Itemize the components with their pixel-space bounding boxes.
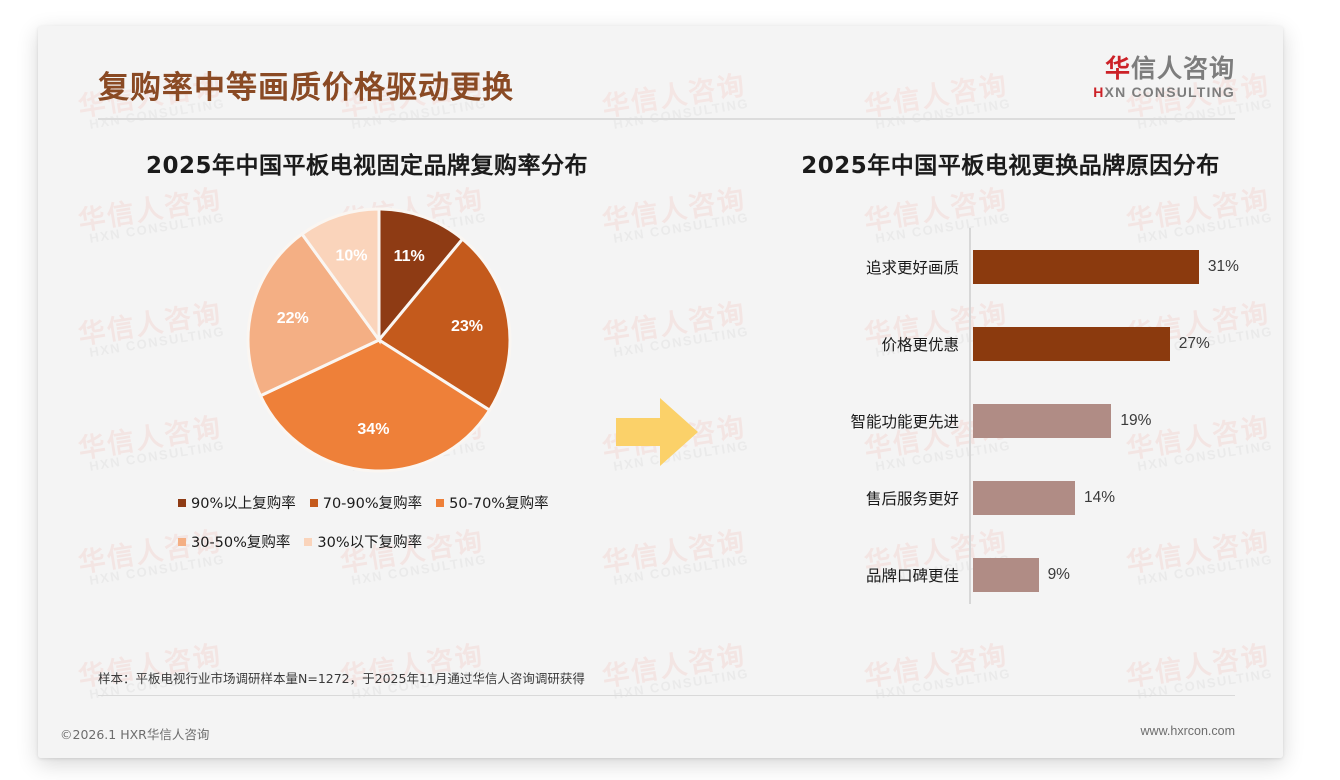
pie-legend-label: 70-90%复购率 <box>323 492 422 513</box>
bar-track: 31% <box>973 250 1283 284</box>
bar-category-label: 智能功能更先进 <box>678 410 973 432</box>
bar-value-label: 9% <box>1048 566 1070 584</box>
bar-fill[interactable] <box>973 250 1199 284</box>
pie-legend-item[interactable]: 30-50%复购率 <box>178 531 290 552</box>
pie-chart-svg: 11%23%34%22%10% <box>245 206 513 474</box>
legend-row-1: 90%以上复购率70-90%复购率50-70%复购率 <box>178 492 598 513</box>
bar-value-label: 31% <box>1208 258 1239 276</box>
bar-row[interactable]: 智能功能更先进19% <box>678 404 1283 438</box>
bar-fill[interactable] <box>973 404 1111 438</box>
sample-footnote-text: 样本：平板电视行业市场调研样本量N=1272，于2025年11月通过华信人咨询调… <box>98 668 1235 695</box>
bar-value-label: 19% <box>1120 412 1151 430</box>
brand-logo-en: HXN CONSULTING <box>1093 85 1235 100</box>
sample-footnote: 样本：平板电视行业市场调研样本量N=1272，于2025年11月通过华信人咨询调… <box>98 668 1235 696</box>
legend-swatch-icon <box>436 499 444 507</box>
legend-row-2: 30-50%复购率30%以下复购率 <box>178 531 598 552</box>
brand-logo-cn-red: 华 <box>1105 54 1131 83</box>
bar-category-label: 品牌口碑更佳 <box>678 564 973 586</box>
brand-logo-cn: 华信人咨询 <box>1093 56 1235 82</box>
pie-legend-label: 30%以下复购率 <box>317 531 422 552</box>
legend-swatch-icon <box>310 499 318 507</box>
bar-row[interactable]: 追求更好画质31% <box>678 250 1283 284</box>
pie-legend-item[interactable]: 50-70%复购率 <box>436 492 548 513</box>
title-divider <box>98 118 1235 120</box>
bar-track: 9% <box>973 558 1283 592</box>
pie-chart-title: 2025年中国平板电视固定品牌复购率分布 <box>56 146 678 180</box>
footer-copyright: ©2026.1 HXR华信人咨询 <box>60 724 209 743</box>
pie-legend-label: 30-50%复购率 <box>191 531 290 552</box>
bar-chart-title: 2025年中国平板电视更换品牌原因分布 <box>738 146 1283 180</box>
bar-category-label: 价格更优惠 <box>678 333 973 355</box>
right-arrow-icon <box>616 394 698 470</box>
bar-category-label: 售后服务更好 <box>678 487 973 509</box>
pie-legend-label: 50-70%复购率 <box>449 492 548 513</box>
bar-track: 27% <box>973 327 1283 361</box>
pie-chart: 11%23%34%22%10% <box>245 206 513 474</box>
bar-fill[interactable] <box>973 327 1170 361</box>
pie-slice-label: 11% <box>394 248 425 265</box>
pie-slice-label: 10% <box>335 247 367 264</box>
pie-slice-label: 34% <box>357 421 389 438</box>
bar-chart: 追求更好画质31%价格更优惠27%智能功能更先进19%售后服务更好14%品牌口碑… <box>678 228 1283 610</box>
pie-legend-item[interactable]: 70-90%复购率 <box>310 492 422 513</box>
pie-legend-label: 90%以上复购率 <box>191 492 296 513</box>
pie-chart-panel: 2025年中国平板电视固定品牌复购率分布 11%23%34%22%10% 90%… <box>38 146 678 570</box>
slide-footer: ©2026.1 HXR华信人咨询 www.hxrcon.com <box>38 708 1283 758</box>
brand-logo-en-rest: XN CONSULTING <box>1105 84 1235 100</box>
legend-swatch-icon <box>304 538 312 546</box>
pie-legend-item[interactable]: 30%以下复购率 <box>304 531 422 552</box>
footer-website[interactable]: www.hxrcon.com <box>1141 724 1235 738</box>
bar-fill[interactable] <box>973 558 1039 592</box>
bar-value-label: 14% <box>1084 489 1115 507</box>
slide-header: 复购率中等画质价格驱动更换 华信人咨询 HXN CONSULTING <box>38 26 1283 116</box>
bar-track: 14% <box>973 481 1283 515</box>
pie-slice-label: 23% <box>451 318 483 335</box>
footnote-rule <box>98 695 1235 696</box>
bar-fill[interactable] <box>973 481 1075 515</box>
slide-card: 华信人咨询HXN CONSULTING华信人咨询HXN CONSULTING华信… <box>38 26 1283 758</box>
brand-logo: 华信人咨询 HXN CONSULTING <box>1093 56 1235 100</box>
pie-slice-label: 22% <box>277 310 309 327</box>
bar-chart-panel: 2025年中国平板电视更换品牌原因分布 追求更好画质31%价格更优惠27%智能功… <box>678 146 1283 610</box>
bar-row[interactable]: 售后服务更好14% <box>678 481 1283 515</box>
brand-logo-en-red: H <box>1093 84 1104 100</box>
pie-legend-item[interactable]: 90%以上复购率 <box>178 492 296 513</box>
brand-logo-cn-rest: 信人咨询 <box>1131 54 1235 83</box>
legend-swatch-icon <box>178 538 186 546</box>
bar-category-label: 追求更好画质 <box>678 256 973 278</box>
bar-row[interactable]: 品牌口碑更佳9% <box>678 558 1283 592</box>
pie-chart-legend: 90%以上复购率70-90%复购率50-70%复购率 30-50%复购率30%以… <box>178 492 598 552</box>
bar-row[interactable]: 价格更优惠27% <box>678 327 1283 361</box>
bar-track: 19% <box>973 404 1283 438</box>
bar-value-label: 27% <box>1179 335 1210 353</box>
legend-swatch-icon <box>178 499 186 507</box>
page-title: 复购率中等画质价格驱动更换 <box>98 62 514 107</box>
